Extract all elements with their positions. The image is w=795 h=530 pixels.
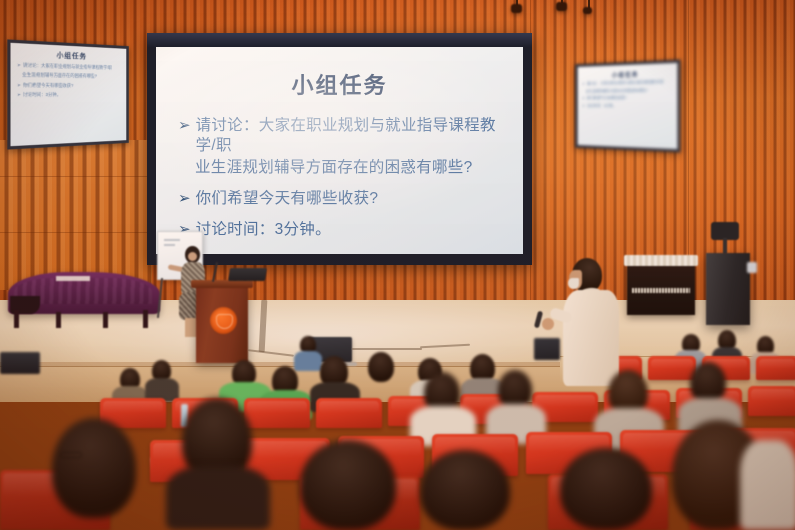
slide-bullet-text: 讨论时间：3分钟。	[196, 220, 331, 240]
monitor-slide-title: 小组任务	[578, 68, 678, 80]
podium-laptop[interactable]	[228, 268, 267, 281]
seat[interactable]	[748, 386, 795, 416]
audience-head	[368, 352, 394, 382]
ceiling-light-fixture	[583, 7, 592, 14]
monitor-slide-line: ➢ 请讨论：大家在职业规划与就业指导课程教学/职	[582, 80, 677, 88]
monitor-screen-content: 小组任务 ➢ 请讨论：大家在职业规划与就业指导课程教学/职 业生涯规划辅导方面存…	[11, 43, 127, 146]
monitor-slide-line: ➢ 请讨论：大家在职业规划与就业指导课程教学/职	[17, 62, 126, 72]
presenter-head	[185, 246, 200, 263]
ceiling-light-fixture	[556, 2, 567, 11]
ceiling-light-fixture	[511, 4, 522, 13]
wall-outlet-plate	[747, 262, 757, 273]
right-confidence-monitor[interactable]: 小组任务 ➢ 请讨论：大家在职业规划与就业指导课程教学/职 业生涯规划辅导方面存…	[575, 60, 680, 153]
paper-on-piano	[56, 276, 90, 281]
stage-monitor-box	[0, 352, 40, 374]
audience-body	[740, 440, 795, 530]
bullet-mark-icon: ➢	[178, 189, 191, 209]
podium-top-surface	[191, 280, 253, 288]
seat[interactable]	[756, 356, 795, 380]
slide-bullet-text: 你们希望今天有哪些收获?	[196, 189, 379, 209]
piano-cloth	[624, 255, 698, 266]
eyeglasses	[60, 452, 82, 458]
stage-equipment[interactable]	[534, 338, 560, 360]
projection-screen[interactable]: 小组任务 ➢ 请讨论：大家在职业规划与就业指导课程教学/职 业生涯规划辅导方面存…	[147, 33, 532, 265]
speaker-mount-arm	[723, 238, 727, 254]
piano-leg	[143, 310, 148, 328]
flipchart-writing	[164, 239, 180, 241]
floor-speaker	[706, 253, 750, 325]
piano-leg	[103, 312, 108, 328]
monitor-slide-line: ➢ 你们希望今天有哪些收获?	[582, 96, 677, 102]
monitor-slide-title: 小组任务	[11, 48, 127, 63]
bullet-mark-icon: ➢	[17, 92, 21, 99]
audience-head	[420, 450, 510, 530]
monitor-slide-line: ➢ 讨论时间：3分钟。	[17, 92, 126, 99]
slide-bullet-text: 请讨论：大家在职业规划与就业指导课程教学/职	[196, 116, 513, 156]
flipchart-writing	[164, 244, 175, 246]
university-emblem-icon	[210, 307, 237, 334]
slide-bullet-1: ➢ 请讨论：大家在职业规划与就业指导课程教学/职	[178, 116, 513, 156]
audience-body	[166, 466, 270, 530]
monitor-slide-line: 业生涯规划辅导方面存在的困惑有哪些?	[22, 72, 126, 80]
presenter-face	[188, 252, 197, 261]
slide-title: 小组任务	[166, 68, 513, 100]
participant-hand	[542, 318, 554, 330]
audience-body	[294, 351, 322, 371]
slide-bullet-1-line-2: 业生涯规划辅导方面存在的困惑有哪些?	[195, 158, 513, 178]
slide-bullet-text: 业生涯规划辅导方面存在的困惑有哪些?	[195, 158, 473, 178]
monitor-slide-line: ➢ 你们希望今天有哪些收获?	[17, 82, 126, 89]
monitor-slide-line: 业生涯规划辅导方面存在的困惑有哪些?	[586, 88, 678, 95]
monitor-screen-content: 小组任务 ➢ 请讨论：大家在职业规划与就业指导课程教学/职 业生涯规划辅导方面存…	[578, 63, 678, 149]
audience-head	[52, 418, 136, 518]
presentation-slide: 小组任务 ➢ 请讨论：大家在职业规划与就业指导课程教学/职 业生涯规划辅导方面存…	[156, 46, 523, 254]
bullet-mark-icon: ➢	[17, 82, 21, 89]
wall-seam	[0, 176, 152, 177]
auditorium-scene: 小组任务 ➢ 请讨论：大家在职业规划与就业指导课程教学/职 业生涯规划辅导方面存…	[0, 0, 795, 530]
bullet-mark-icon: ➢	[178, 116, 191, 136]
slide-bullet-2: ➢ 你们希望今天有哪些收获?	[178, 189, 513, 209]
piano-keys	[632, 288, 690, 293]
piano-leg	[14, 310, 19, 328]
wall-seam	[0, 232, 152, 233]
audience-head	[300, 440, 396, 530]
bullet-mark-icon: ➢	[582, 104, 585, 109]
monitor-slide-line: ➢ 讨论时间：3分钟。	[582, 104, 677, 110]
left-confidence-monitor[interactable]: 小组任务 ➢ 请讨论：大家在职业规划与就业指导课程教学/职 业生涯规划辅导方面存…	[7, 39, 129, 149]
face-mask	[568, 278, 579, 289]
wall-panel-left	[0, 140, 152, 290]
participant-torso	[563, 290, 619, 386]
audience-head	[560, 448, 652, 530]
bullet-mark-icon: ➢	[582, 82, 585, 87]
bullet-mark-icon: ➢	[582, 97, 585, 102]
slide-bullet-3: ➢ 讨论时间：3分钟。	[178, 220, 513, 240]
seat[interactable]	[648, 356, 696, 380]
seat[interactable]	[316, 398, 382, 428]
bullet-mark-icon: ➢	[17, 62, 21, 69]
speaking-podium[interactable]	[196, 285, 248, 363]
piano-leg	[56, 312, 61, 328]
cable	[352, 348, 422, 350]
seat[interactable]	[244, 398, 310, 428]
